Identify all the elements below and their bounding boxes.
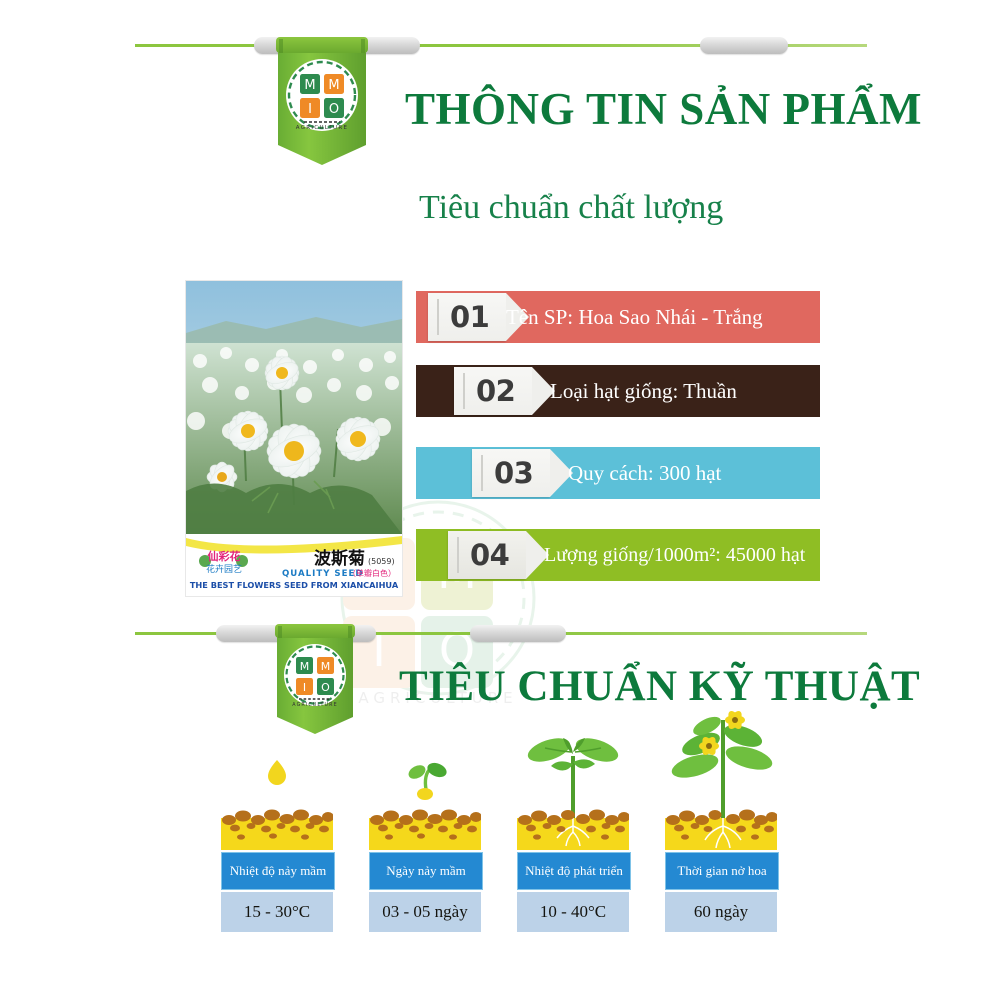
- info-row-1-badge: 01: [428, 293, 506, 341]
- badge-tick: [457, 537, 459, 573]
- info-row-3-text: Quy cách: 300 hạt: [568, 447, 721, 499]
- info-row-4-badge: 04: [448, 531, 526, 579]
- spec-card-2: Ngày nảy mầm 03 - 05 ngày: [361, 806, 489, 932]
- flowering-icon: [657, 710, 785, 820]
- badge-tick: [481, 455, 483, 491]
- info-row-2-badge: 02: [454, 367, 532, 415]
- packet-brand-cn2: 花卉园艺: [206, 563, 242, 575]
- svg-text:M: M: [321, 660, 331, 673]
- spec-card-2-label: Ngày nảy mầm: [369, 852, 483, 890]
- info-row-4-number: 04: [470, 538, 509, 572]
- svg-text:O: O: [321, 681, 330, 694]
- brand-banner-top: M M I O AGRICULTURE: [272, 33, 372, 173]
- info-row-3-number: 03: [494, 456, 533, 490]
- spec-card-4-label: Thời gian nở hoa: [665, 852, 779, 890]
- spec-card-1-label: Nhiệt độ nảy mầm: [221, 852, 335, 890]
- spec-card-1-value: 15 - 30°C: [221, 892, 333, 932]
- infographic-page: M M I O AGRICULTURE: [0, 0, 1000, 1000]
- soil-graphic: [221, 806, 333, 850]
- badge-tick: [463, 373, 465, 409]
- seed-drop-icon: [213, 744, 341, 814]
- packet-label-strip: 仙彩花 花卉园艺 波斯菊 (5059) QUALITY SEED （单瓣白色） …: [186, 534, 402, 596]
- info-row-2-text: Loại hạt giống: Thuần: [550, 365, 737, 417]
- svg-text:O: O: [329, 102, 339, 117]
- page-subtitle: Tiêu chuẩn chất lượng: [419, 189, 723, 227]
- svg-text:I: I: [303, 681, 306, 694]
- info-row-4-text: Lượng giống/1000m²: 45000 hạt: [544, 529, 805, 581]
- info-row-4: Lượng giống/1000m²: 45000 hạt 04: [416, 529, 820, 581]
- svg-text:M: M: [300, 660, 310, 673]
- svg-text:AGRICULTURE: AGRICULTURE: [296, 125, 349, 131]
- soil-graphic: [517, 806, 629, 850]
- info-row-1-text: Tên SP: Hoa Sao Nhái - Trắng: [506, 291, 763, 343]
- spec-card-4: Thời gian nở hoa 60 ngày: [657, 806, 785, 932]
- info-row-3: Quy cách: 300 hạt 03: [416, 447, 820, 499]
- spec-card-3-value: 10 - 40°C: [517, 892, 629, 932]
- packet-photo: [186, 281, 402, 534]
- packet-variant: （单瓣白色）: [348, 568, 396, 578]
- seed-packet-image: 仙彩花 花卉园艺 波斯菊 (5059) QUALITY SEED （单瓣白色） …: [186, 281, 402, 596]
- spec-card-4-value: 60 ngày: [665, 892, 777, 932]
- info-row-2: Loại hạt giống: Thuần 02: [416, 365, 820, 417]
- section2-title: TIÊU CHUẨN KỸ THUẬT: [399, 662, 920, 711]
- spec-card-1: Nhiệt độ nảy mầm 15 - 30°C: [213, 806, 341, 932]
- banner2-rod-right: [470, 625, 566, 642]
- svg-text:M: M: [328, 78, 339, 93]
- packet-brand-cn: 仙彩花: [208, 549, 241, 563]
- badge-tick: [437, 299, 439, 335]
- spec-card-3: Nhiệt độ phát triển 10 - 40°C: [509, 806, 637, 932]
- spec-card-3-label: Nhiệt độ phát triển: [517, 852, 631, 890]
- sprout-icon: [361, 744, 489, 814]
- brand-banner-bottom: M M I O AGRICULTURE: [272, 621, 358, 741]
- info-row-1-number: 01: [450, 300, 489, 334]
- info-row-2-number: 02: [476, 374, 515, 408]
- svg-text:M: M: [304, 78, 315, 93]
- info-row-1: Tên SP: Hoa Sao Nhái - Trắng 01: [416, 291, 820, 343]
- page-title: THÔNG TIN SẢN PHẨM: [405, 83, 922, 135]
- soil-graphic: [369, 806, 481, 850]
- info-row-3-badge: 03: [472, 449, 550, 497]
- soil-graphic: [665, 806, 777, 850]
- banner-rod-right: [700, 37, 788, 54]
- packet-chinese-name: 波斯菊: [314, 548, 365, 569]
- packet-code: (5059): [368, 557, 395, 566]
- svg-text:AGRICULTURE: AGRICULTURE: [292, 702, 337, 708]
- spec-card-2-value: 03 - 05 ngày: [369, 892, 481, 932]
- packet-tagline: THE BEST FLOWERS SEED FROM XIANCAIHUA: [190, 580, 399, 590]
- svg-text:I: I: [308, 102, 312, 117]
